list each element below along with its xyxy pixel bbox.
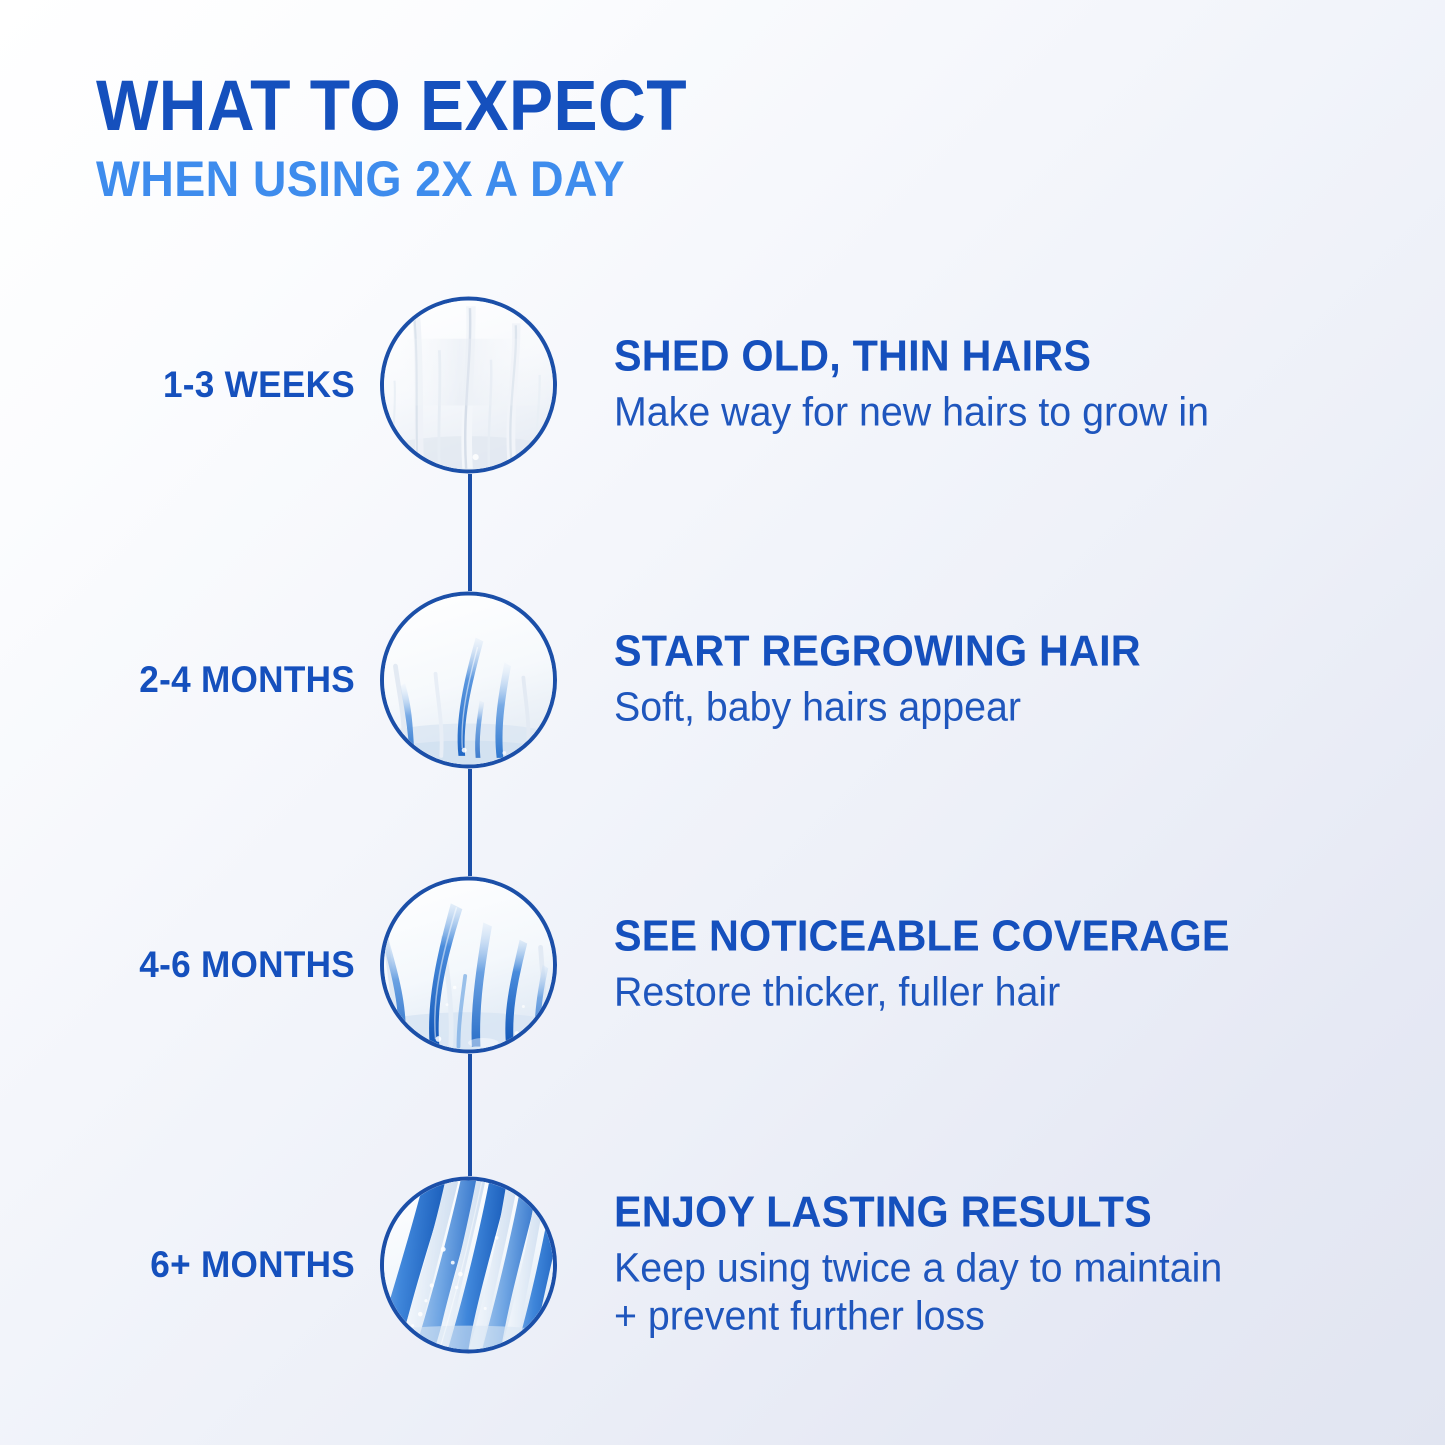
stage-desc-1: Make way for new hairs to grow in [614, 388, 1344, 436]
stage-image-circle-1 [380, 297, 557, 474]
timeline-connector-2 [468, 769, 472, 876]
stage-title-4: ENJOY LASTING RESULTS [614, 1190, 1328, 1236]
stage-text-block-1: SHED OLD, THIN HAIRS Make way for new ha… [614, 334, 1374, 437]
stage-image-circle-2 [380, 592, 557, 769]
hair-closeup-image-4 [384, 1181, 553, 1350]
stage-desc-line: + prevent further loss [614, 1292, 1344, 1340]
stage-desc-line: Restore thicker, fuller hair [614, 968, 1344, 1016]
stage-desc-line: Keep using twice a day to maintain [614, 1244, 1344, 1292]
hair-closeup-image-3 [384, 881, 553, 1050]
stage-desc-2: Soft, baby hairs appear [614, 683, 1344, 731]
stage-period-label-3: 4-6 MONTHS [0, 944, 355, 986]
stage-title-1: SHED OLD, THIN HAIRS [614, 334, 1328, 380]
infographic-canvas: WHAT TO EXPECT WHEN USING 2X A DAY 1-3 W… [0, 0, 1445, 1445]
stage-text-block-2: START REGROWING HAIR Soft, baby hairs ap… [614, 629, 1374, 732]
stage-desc-3: Restore thicker, fuller hair [614, 968, 1344, 1016]
stage-text-block-3: SEE NOTICEABLE COVERAGE Restore thicker,… [614, 914, 1374, 1017]
stage-text-block-4: ENJOY LASTING RESULTS Keep using twice a… [614, 1190, 1374, 1341]
stage-image-circle-3 [380, 877, 557, 1054]
timeline-connector-1 [468, 474, 472, 591]
stage-image-circle-4 [380, 1177, 557, 1354]
timeline-connector-3 [468, 1054, 472, 1176]
stage-desc-4: Keep using twice a day to maintain + pre… [614, 1244, 1344, 1340]
stage-period-label-1: 1-3 WEEKS [0, 364, 355, 406]
stage-title-3: SEE NOTICEABLE COVERAGE [614, 914, 1328, 960]
stage-period-label-4: 6+ MONTHS [0, 1244, 355, 1286]
timeline: 1-3 WEEKS [0, 0, 1445, 1445]
stage-title-2: START REGROWING HAIR [614, 629, 1328, 675]
hair-closeup-image-1 [384, 301, 553, 470]
stage-desc-line: Make way for new hairs to grow in [614, 388, 1344, 436]
stage-desc-line: Soft, baby hairs appear [614, 683, 1344, 731]
stage-period-label-2: 2-4 MONTHS [0, 659, 355, 701]
hair-closeup-image-2 [384, 596, 553, 765]
